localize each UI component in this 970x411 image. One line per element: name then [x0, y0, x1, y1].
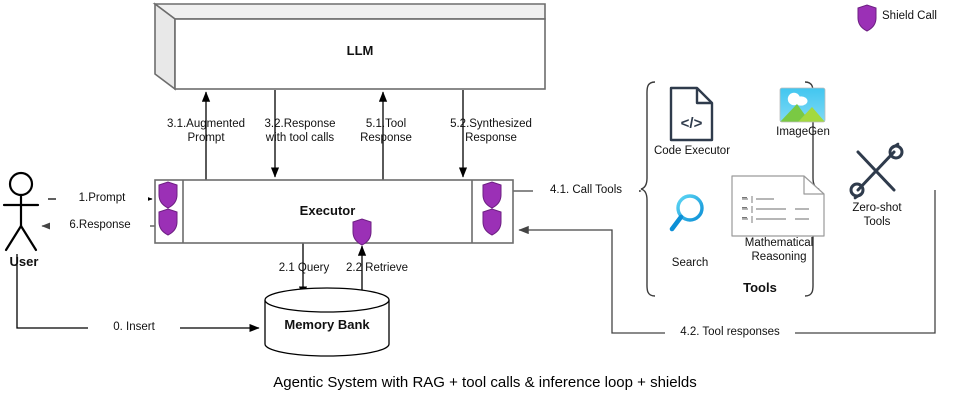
- tools-group-label: Tools: [690, 281, 830, 295]
- tool-label-zero-shot-tools-line2: Tools: [838, 216, 916, 230]
- edge-label-tool-responses: 4.2. Tool responses: [665, 326, 795, 340]
- tool-label-zero-shot-tools-line1: Zero-shot: [838, 202, 916, 216]
- diagram-caption: Agentic System with RAG + tool calls & i…: [0, 374, 970, 391]
- legend-shield-label: Shield Call: [882, 10, 966, 24]
- edge-label-response: 6.Response: [50, 219, 150, 233]
- tool-label-imagegen: ImageGen: [761, 126, 845, 140]
- tool-label-mathematical-reasoning-line2: Reasoning: [723, 251, 835, 265]
- tool-label-search: Search: [653, 257, 727, 271]
- llm-node-label: LLM: [175, 44, 545, 58]
- connector-layer: </>: [0, 0, 970, 411]
- edge-label-query: 2.1 Query: [266, 262, 342, 276]
- edge-label-insert: 0. Insert: [88, 321, 180, 335]
- tool-label-mathematical-reasoning-line1: Mathematical: [723, 237, 835, 251]
- tool-label-code-executor: Code Executor: [645, 145, 739, 159]
- edge-label-prompt: 1.Prompt: [56, 192, 148, 206]
- edge-label-tool-response-line2: Response: [335, 132, 437, 146]
- edge-label-synthesized-response-line2: Response: [425, 132, 557, 146]
- edge-label-synthesized-response-line1: 5.2.Synthesized: [425, 118, 557, 132]
- svg-text:</>: </>: [681, 115, 703, 132]
- memory-bank-node-label: Memory Bank: [265, 318, 389, 332]
- edge-label-call-tools: 4.1. Call Tools: [533, 184, 639, 198]
- user-node-label: User: [0, 255, 48, 269]
- edge-label-tool-response-line1: 5.1.Tool: [335, 118, 437, 132]
- executor-node-label: Executor: [183, 204, 472, 218]
- edge-label-retrieve: 2.2 Retrieve: [333, 262, 421, 276]
